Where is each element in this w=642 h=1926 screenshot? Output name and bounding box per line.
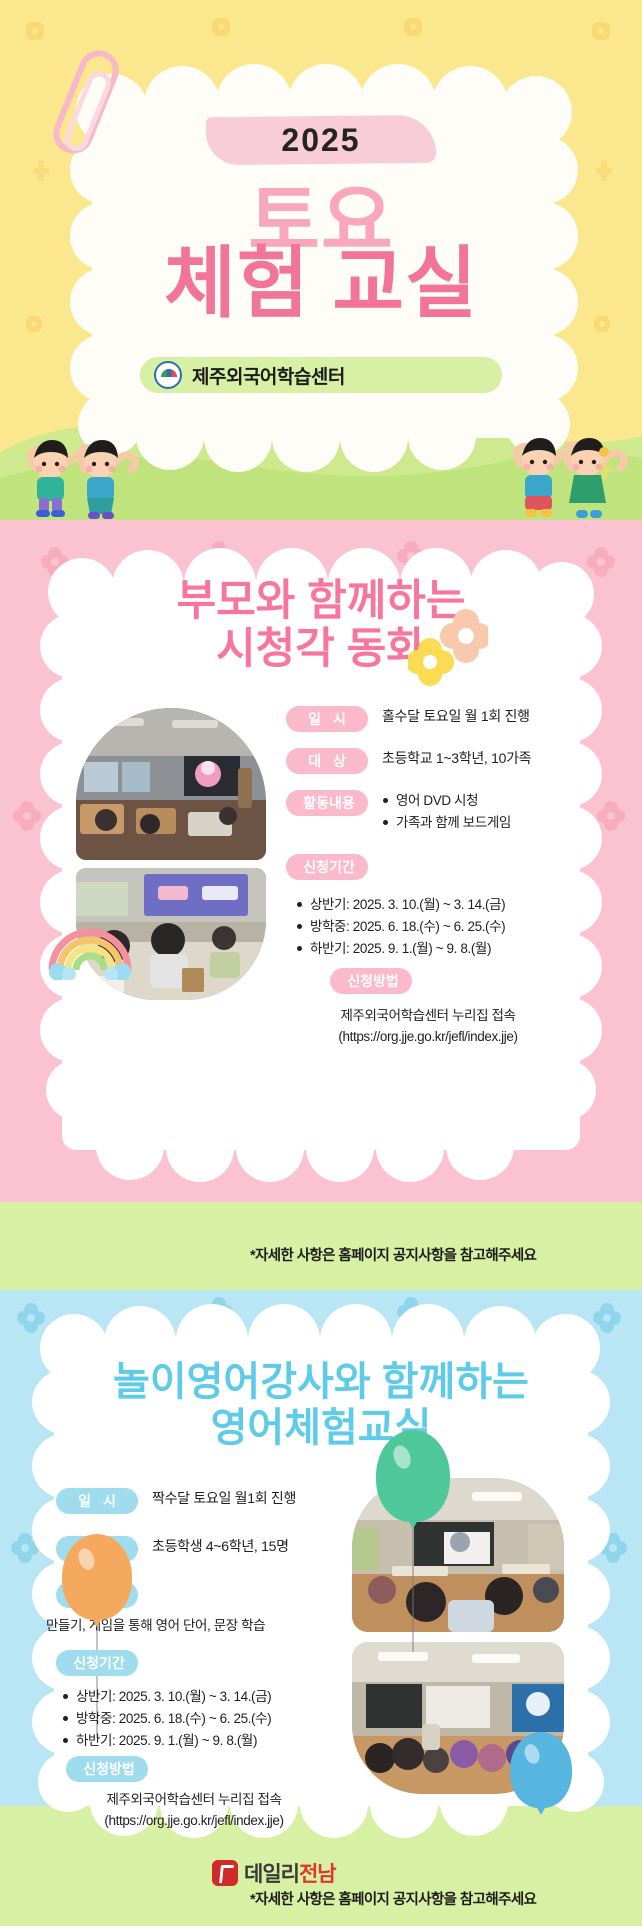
list-item: 방학중: 2025. 6. 18.(수) ~ 6. 25.(수) bbox=[296, 916, 505, 938]
balloon-highlight bbox=[75, 1546, 97, 1572]
program1-footnote: *자세한 사항은 홈페이지 공지사항을 참고해주세요 bbox=[250, 1244, 536, 1265]
method-url[interactable]: (https://org.jje.go.kr/jefl/index.jje) bbox=[288, 1027, 568, 1048]
balloon-highlight bbox=[390, 1443, 413, 1471]
program2-title-line1: 놀이영어강사와 함께하는 bbox=[0, 1362, 642, 1402]
hero-year: 2025 bbox=[0, 122, 642, 159]
list-item: 하반기: 2025. 9. 1.(월) ~ 9. 8.(월) bbox=[296, 938, 505, 960]
balloon-green-icon bbox=[376, 1430, 450, 1522]
program1-period-list: 상반기: 2025. 3. 10.(월) ~ 3. 14.(금) 방학중: 20… bbox=[296, 894, 505, 960]
value-datetime: 홀수달 토요일 월 1회 진행 bbox=[382, 706, 530, 727]
program2-footnote: *자세한 사항은 홈페이지 공지사항을 참고해주세요 bbox=[250, 1888, 536, 1909]
pill-label-target: 대 상 bbox=[286, 748, 368, 774]
list-item: 상반기: 2025. 3. 10.(월) ~ 3. 14.(금) bbox=[62, 1686, 271, 1708]
organization-name: 제주외국어학습센터 bbox=[192, 362, 345, 389]
pill-label-period: 신청기간 bbox=[56, 1650, 138, 1676]
watermark-logo: 데일리전남 bbox=[212, 1858, 336, 1888]
balloon-blue-icon bbox=[510, 1732, 572, 1808]
value-target: 초등학교 1~3학년, 10가족 bbox=[382, 748, 531, 769]
program2-row-datetime: 일 시 짝수달 토요일 월1회 진행 bbox=[56, 1488, 296, 1514]
program1-row-period-label: 신청기간 bbox=[286, 854, 368, 880]
program1-section: 부모와 함께하는 시청각 동화 bbox=[0, 520, 642, 1290]
list-item: 가족과 함께 보드게임 bbox=[382, 812, 511, 834]
pill-label-method: 신청방법 bbox=[330, 968, 412, 994]
balloon-highlight bbox=[522, 1742, 542, 1765]
program1-row-target: 대 상 초등학교 1~3학년, 10가족 bbox=[286, 748, 531, 774]
organization-badge: 제주외국어학습센터 bbox=[140, 357, 502, 393]
program1-row-datetime: 일 시 홀수달 토요일 월 1회 진행 bbox=[286, 706, 530, 732]
pill-label-method: 신청방법 bbox=[66, 1756, 148, 1782]
program2-period-list: 상반기: 2025. 3. 10.(월) ~ 3. 14.(금) 방학중: 20… bbox=[62, 1686, 271, 1752]
list-item: 상반기: 2025. 3. 10.(월) ~ 3. 14.(금) bbox=[296, 894, 505, 916]
program1-row-method-label: 신청방법 bbox=[330, 968, 412, 994]
pill-label-datetime: 일 시 bbox=[56, 1488, 138, 1514]
pill-label-activity: 활동내용 bbox=[286, 790, 368, 816]
program1-title-flowers bbox=[408, 608, 488, 698]
list-item: 영어 DVD 시청 bbox=[382, 790, 511, 812]
program2-title-line2: 영어체험교실 bbox=[0, 1408, 642, 1448]
poster-root: 2025 토요 체험 교실 제주외국어학습센터 bbox=[0, 0, 642, 1926]
program2-method-block: 제주외국어학습센터 누리집 접속 (https://org.jje.go.kr/… bbox=[44, 1790, 344, 1832]
program1-title-line2: 시청각 동화 bbox=[0, 628, 642, 671]
watermark-text: 데일리전남 bbox=[244, 1858, 336, 1888]
school-emblem-icon bbox=[154, 361, 182, 389]
hero-kids-left bbox=[10, 428, 142, 520]
list-item: 방학중: 2025. 6. 18.(수) ~ 6. 25.(수) bbox=[62, 1708, 271, 1730]
program1-activity-list: 영어 DVD 시청 가족과 함께 보드게임 bbox=[382, 790, 511, 834]
value-datetime: 짝수달 토요일 월1회 진행 bbox=[152, 1488, 296, 1509]
pill-label-period: 신청기간 bbox=[286, 854, 368, 880]
program2-row-method-label: 신청방법 bbox=[66, 1756, 148, 1782]
pill-label-datetime: 일 시 bbox=[286, 706, 368, 732]
daily-jeonnam-mark-icon bbox=[212, 1860, 238, 1886]
watermark-text-part1: 데일리 bbox=[244, 1863, 299, 1886]
list-item: 하반기: 2025. 9. 1.(월) ~ 9. 8.(월) bbox=[62, 1730, 271, 1752]
program1-row-activity: 활동내용 영어 DVD 시청 가족과 함께 보드게임 bbox=[286, 790, 511, 834]
watermark-text-part2: 전남 bbox=[299, 1863, 336, 1886]
hero-kids-right bbox=[498, 424, 636, 520]
hero-section: 2025 토요 체험 교실 제주외국어학습센터 bbox=[0, 0, 642, 520]
program1-title-line1: 부모와 함께하는 bbox=[0, 580, 642, 623]
method-url[interactable]: (https://org.jje.go.kr/jefl/index.jje) bbox=[44, 1811, 344, 1832]
method-line1: 제주외국어학습센터 누리집 접속 bbox=[44, 1790, 344, 1811]
program1-method-block: 제주외국어학습센터 누리집 접속 (https://org.jje.go.kr/… bbox=[288, 1006, 568, 1048]
method-line1: 제주외국어학습센터 누리집 접속 bbox=[288, 1006, 568, 1027]
program2-section: 놀이영어강사와 함께하는 영어체험교실 bbox=[0, 1290, 642, 1926]
value-target: 초등학생 4~6학년, 15명 bbox=[152, 1536, 289, 1557]
rainbow-icon bbox=[42, 916, 138, 980]
hero-title-line2: 체험 교실 bbox=[0, 244, 642, 322]
program2-row-period-label: 신청기간 bbox=[56, 1650, 138, 1676]
balloon-orange-icon bbox=[62, 1534, 132, 1620]
